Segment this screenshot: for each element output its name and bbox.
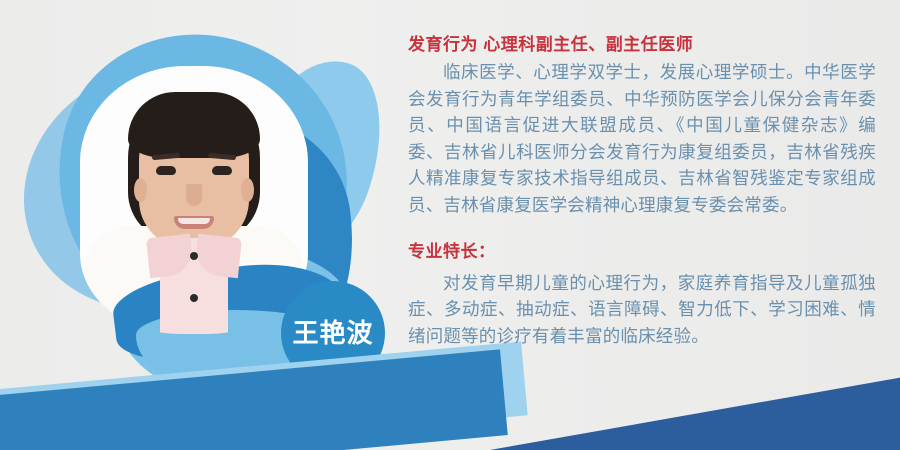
portrait-button-top bbox=[190, 252, 198, 260]
portrait-decoration-group: 王艳波 bbox=[18, 18, 358, 378]
profile-text-column: 发育行为 心理科副主任、副主任医师 临床医学、心理学双学士，发展心理学硕士。中华… bbox=[408, 34, 876, 350]
section-title-specialty: 专业特长： bbox=[408, 241, 876, 263]
portrait-mouth bbox=[174, 216, 214, 229]
section-title-position: 发育行为 心理科副主任、副主任医师 bbox=[408, 34, 876, 56]
portrait-ear-right bbox=[241, 178, 254, 202]
section-spacer bbox=[408, 219, 876, 241]
doctor-name: 王艳波 bbox=[292, 320, 373, 346]
section-body-credentials: 临床医学、心理学双学士，发展心理学硕士。中华医学会发育行为青年学组委员、中华预防… bbox=[408, 59, 876, 219]
portrait-ear-left bbox=[134, 178, 147, 202]
portrait-hair-top bbox=[128, 92, 260, 158]
portrait-eye-left bbox=[156, 166, 176, 175]
portrait-button-bottom bbox=[190, 294, 198, 302]
section-body-specialty: 对发育早期儿童的心理行为，家庭养育指导及儿童孤独症、多动症、抽动症、语言障碍、智… bbox=[408, 270, 876, 350]
portrait-eye-right bbox=[212, 166, 232, 175]
doctor-profile-card: 王艳波 发育行为 心理科副主任、副主任医师 临床医学、心理学双学士，发展心理学硕… bbox=[0, 0, 900, 450]
portrait-nose bbox=[186, 184, 202, 206]
